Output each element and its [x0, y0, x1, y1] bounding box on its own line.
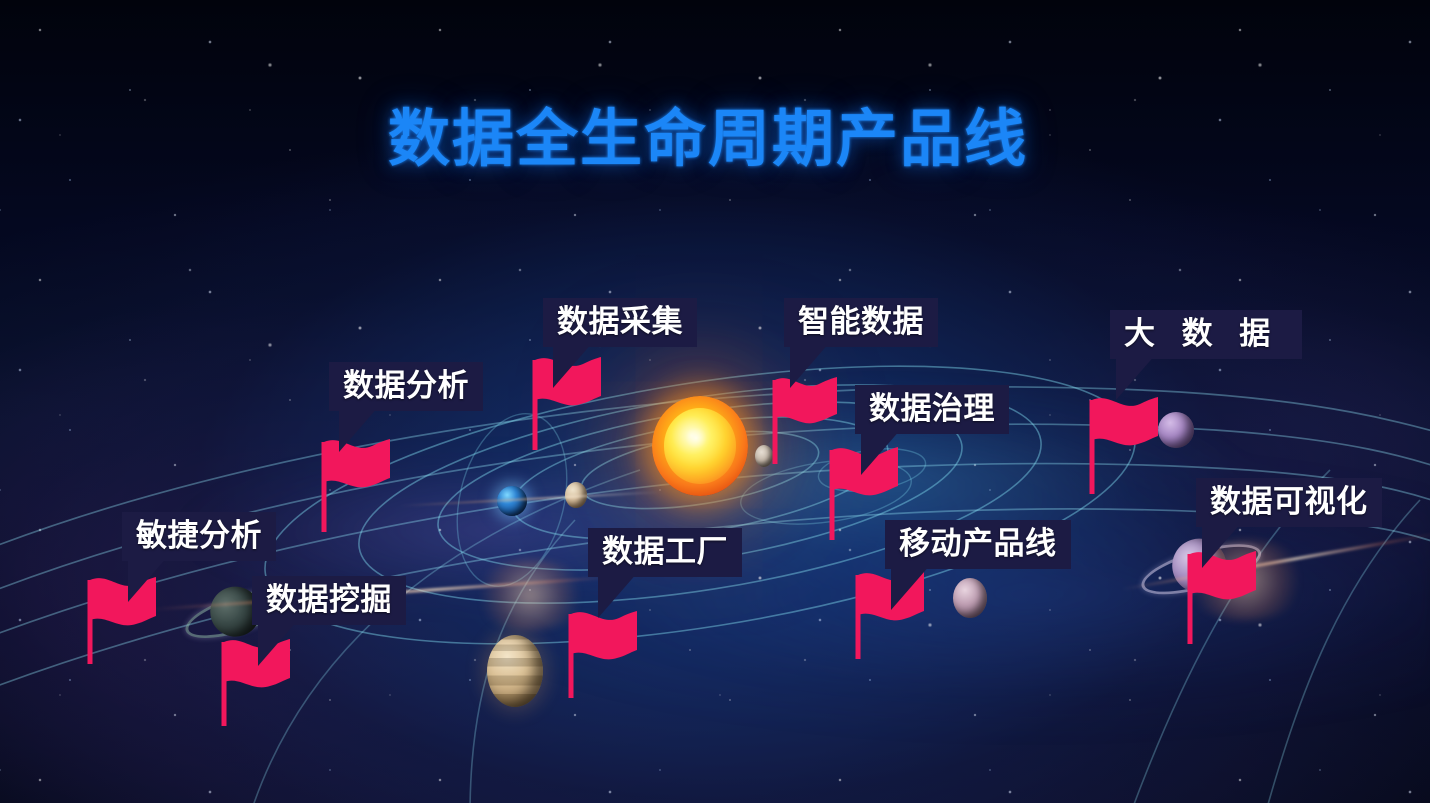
sun-core	[664, 408, 737, 484]
planet-mauve	[953, 578, 987, 618]
callout-label: 数据挖掘	[266, 582, 392, 617]
callout-label: 智能数据	[798, 304, 924, 339]
callout-tail	[128, 556, 168, 602]
flag-marker-data-factory	[565, 612, 639, 698]
callout-tail	[861, 429, 901, 475]
planet-earth	[497, 486, 527, 516]
callout-tail	[553, 342, 593, 388]
planet-jupiter	[487, 635, 543, 707]
callout-label: 大 数 据	[1124, 316, 1288, 351]
callout-big-data[interactable]: 大 数 据	[1110, 310, 1302, 359]
callout-mobile-product-line[interactable]: 移动产品线	[885, 520, 1071, 569]
page-title: 数据全生命周期产品线	[388, 88, 1028, 178]
callout-label: 数据采集	[557, 304, 683, 339]
callout-box[interactable]: 移动产品线	[885, 520, 1071, 569]
callout-box[interactable]: 智能数据	[784, 298, 938, 347]
callout-box[interactable]: 敏捷分析	[122, 512, 276, 561]
callout-box[interactable]: 数据挖掘	[252, 576, 406, 625]
callout-agile-analysis[interactable]: 敏捷分析	[122, 512, 276, 561]
callout-label: 移动产品线	[899, 526, 1057, 561]
callout-box[interactable]: 数据分析	[329, 362, 483, 411]
callout-data-governance[interactable]: 数据治理	[855, 385, 1009, 434]
callout-box[interactable]: 数据采集	[543, 298, 697, 347]
callout-label: 数据可视化	[1210, 484, 1368, 519]
callout-box[interactable]: 数据工厂	[588, 528, 742, 577]
callout-smart-data[interactable]: 智能数据	[784, 298, 938, 347]
slide-canvas: 数据全生命周期产品线 数据分析 数据采集	[0, 0, 1430, 803]
callout-label: 敏捷分析	[136, 518, 262, 553]
callout-data-analysis[interactable]: 数据分析	[329, 362, 483, 411]
callout-data-visualization[interactable]: 数据可视化	[1196, 478, 1382, 527]
callout-tail	[339, 406, 379, 452]
callout-label: 数据分析	[343, 368, 469, 403]
callout-tail	[790, 342, 830, 388]
callout-box[interactable]: 大 数 据	[1110, 310, 1302, 359]
callout-data-factory[interactable]: 数据工厂	[588, 528, 742, 577]
sun	[652, 396, 748, 496]
callout-box[interactable]: 数据可视化	[1196, 478, 1382, 527]
flag-marker-big-data	[1086, 398, 1160, 494]
callout-data-mining[interactable]: 数据挖掘	[252, 576, 406, 625]
callout-label: 数据治理	[869, 391, 995, 426]
callout-box[interactable]: 数据治理	[855, 385, 1009, 434]
callout-tail	[598, 572, 638, 618]
callout-tail	[1116, 354, 1156, 400]
flag-marker-data-analysis	[318, 440, 392, 532]
callout-tail	[891, 564, 931, 610]
callout-data-collection[interactable]: 数据采集	[543, 298, 697, 347]
callout-tail	[1202, 522, 1242, 568]
planet-tan	[565, 482, 587, 508]
planet-violet	[1158, 412, 1194, 448]
callout-tail	[258, 620, 298, 666]
callout-label: 数据工厂	[602, 534, 728, 569]
